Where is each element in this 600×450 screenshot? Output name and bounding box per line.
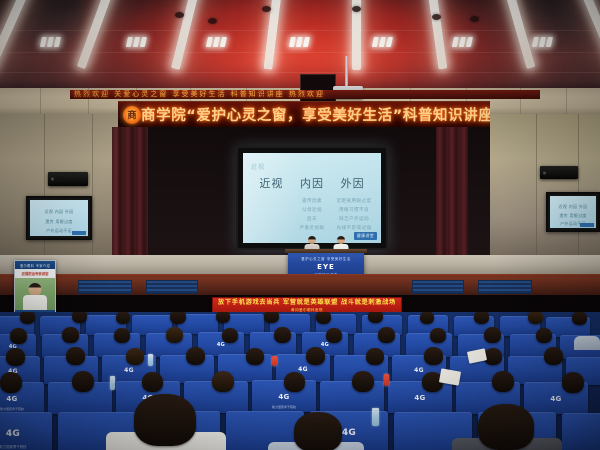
audience-head xyxy=(562,372,584,393)
seat-sub-label: 助力国家青干院校 xyxy=(0,444,52,449)
slide-badge: 健康讲堂 xyxy=(354,232,377,240)
audience-head xyxy=(186,347,205,365)
stage-curtain-right xyxy=(436,127,468,257)
audience-head xyxy=(368,312,383,323)
slide-line: 父母近视 xyxy=(302,208,322,215)
water-bottle xyxy=(148,354,153,366)
slide-header-tag: 近视 xyxy=(251,162,265,171)
audience-head xyxy=(378,327,395,343)
slide-line: 用眼习惯不良 xyxy=(339,208,369,215)
monitor-badge xyxy=(580,223,594,227)
audience-head xyxy=(66,347,85,365)
audience-head xyxy=(72,312,87,323)
audience-head xyxy=(264,312,279,323)
ceiling-lamp-cluster xyxy=(369,36,395,47)
audience-head xyxy=(212,371,234,392)
ceiling-seam xyxy=(0,72,600,73)
slide-line: 后天 xyxy=(307,217,317,224)
led-banner-main: 商 商学院“爱护心灵之窗，享受美好生活”科普知识讲座 xyxy=(118,101,490,128)
slide-column-internal: 遗传因素 父母近视 后天 严重近视眼 xyxy=(291,197,333,233)
audience-head xyxy=(316,312,331,324)
ceiling-vent xyxy=(352,6,361,12)
audience-head xyxy=(170,312,186,324)
presenter-head xyxy=(337,236,345,244)
seat-brand-label: 4G xyxy=(388,394,452,402)
slide-title-0: 近视 xyxy=(259,175,283,191)
monitor-text-row: 遗传 用眼过度 xyxy=(550,213,596,219)
projection-screen: 近视 近视 内因 外因 遗传因素 父母近视 后天 严重近视眼 近距离用眼过度 用… xyxy=(243,153,381,243)
side-monitor-left: 近视 内因 外因 遗传 用眼过度 户外运动不足 xyxy=(26,196,92,240)
seat xyxy=(562,413,600,450)
audience-head xyxy=(474,312,489,324)
slide-line: 严重近视眼 xyxy=(300,226,325,233)
seat-brand-label: 4G xyxy=(198,342,244,348)
side-monitor-right: 近视 内因 外因 遗传 用眼过度 户外运动不足 xyxy=(546,192,600,232)
audience-head xyxy=(246,348,264,365)
water-bottle xyxy=(384,374,389,386)
audience-head xyxy=(484,327,501,343)
ceiling-vent xyxy=(262,6,271,12)
riser-vent-grille xyxy=(78,280,132,294)
audience-head xyxy=(352,371,374,392)
monitor-badge xyxy=(72,231,86,235)
water-bottle xyxy=(272,356,277,366)
audience-head xyxy=(274,327,291,343)
poster-header-text: 爱尔眼科 专家介绍 xyxy=(20,263,50,268)
wall-seam xyxy=(578,114,579,264)
wall-speaker-left xyxy=(48,172,88,186)
ceiling-lamp-cluster xyxy=(449,36,475,47)
led-banner-title: 商学院“爱护心灵之窗，享受美好生活”科普知识讲座 xyxy=(141,104,490,125)
slide-line: 遗传因素 xyxy=(302,199,322,206)
ceiling-vent xyxy=(432,14,441,20)
led-ticker-top: 热烈欢迎 关爱心灵之窗 享受美好生活 科普知识讲座 热烈欢迎 xyxy=(70,90,540,99)
table-skirt-logo: EYE xyxy=(288,263,364,271)
ceiling-lamp-cluster xyxy=(37,36,63,47)
right-side-wall xyxy=(490,114,600,264)
led-ticker-top-text: 热烈欢迎 关爱心灵之窗 享受美好生活 科普知识讲座 热烈欢迎 xyxy=(74,90,325,99)
poster-band: 近视防治专家讲堂 xyxy=(15,269,55,278)
slogan-banner-main-text: 放下手机游戏去当兵 军营就是英雄联盟 战斗就是刺激战场 xyxy=(218,300,396,306)
poster-band-text: 近视防治专家讲堂 xyxy=(21,271,48,276)
slide-title-row: 近视 内因 外因 xyxy=(243,175,381,191)
audience-head xyxy=(142,372,163,392)
table-top-surface xyxy=(285,249,367,253)
audience-head xyxy=(10,328,27,344)
slide-line: 近距离用眼过度 xyxy=(337,199,372,206)
seat-brand-label: 4G xyxy=(0,429,52,439)
seat-sub-label: 助力国家青干院校 xyxy=(252,405,316,409)
slide-column-spacer xyxy=(249,197,291,233)
riser-vent-grille xyxy=(146,280,198,294)
ceiling-lamp-cluster xyxy=(203,36,229,47)
foreground-attendee-head xyxy=(294,412,342,450)
audience-head xyxy=(126,348,144,365)
slide-column-external: 近距离用眼过度 用眼习惯不良 缺乏户外运动 光线不足或过强 xyxy=(333,197,375,233)
audience-head xyxy=(430,328,446,343)
audience-head xyxy=(366,348,384,365)
ceiling-lamp-cluster xyxy=(286,36,312,47)
table-skirt-line-1: 爱护心灵之窗 享受美好生活 xyxy=(288,256,364,261)
wall-seam xyxy=(92,114,93,264)
seat-brand-label: 4G xyxy=(276,366,330,373)
lecture-hall-photo: 热烈欢迎 关爱心灵之窗 享受美好生活 科普知识讲座 热烈欢迎 商 商学院“爱护心… xyxy=(0,0,600,450)
ceiling-lamp-cluster xyxy=(529,36,555,47)
seat: 4G 助力国家青干院校 xyxy=(0,412,52,450)
wall-seam xyxy=(44,114,45,264)
projector-mount-pole xyxy=(345,56,348,90)
seat-brand-label: 4G xyxy=(0,395,44,403)
audience-head xyxy=(72,371,94,392)
audience-head xyxy=(306,347,325,365)
presenter-head xyxy=(308,236,316,244)
audience-head xyxy=(528,312,543,324)
wall-panel-seam xyxy=(40,88,41,114)
audience-head xyxy=(544,347,563,365)
slide-line: 缺乏户外运动 xyxy=(339,217,369,224)
ceiling-vent xyxy=(208,18,217,24)
poster-portrait-torso xyxy=(23,295,47,310)
audience-head xyxy=(572,312,587,325)
slide-content-columns: 遗传因素 父母近视 后天 严重近视眼 近距离用眼过度 用眼习惯不良 缺乏户外运动… xyxy=(243,197,381,233)
audience-head xyxy=(62,327,79,343)
poster-header: 爱尔眼科 专家介绍 xyxy=(15,261,55,269)
audience-head xyxy=(216,312,230,323)
monitor-text-row: 近视 内因 外因 xyxy=(550,204,596,210)
audience-head xyxy=(326,328,342,343)
side-monitor-right-screen: 近视 内因 外因 遗传 用眼过度 户外运动不足 xyxy=(550,196,596,228)
wall-panel-seam xyxy=(566,88,567,114)
wall-seam xyxy=(536,114,537,264)
audience-head xyxy=(284,372,305,392)
left-side-wall xyxy=(0,114,118,264)
seat-brand-label: 4G xyxy=(302,342,348,348)
audience-head xyxy=(20,312,35,324)
audience-seating-area: 4G 4G 4G 4G 4G xyxy=(0,312,600,450)
audience-head xyxy=(222,328,238,343)
audience-shoulders xyxy=(574,336,600,350)
seat-brand-label: 4G xyxy=(252,393,316,401)
monitor-text-row: 近视 内因 外因 xyxy=(30,209,88,215)
seat-sub-label: 助力国家青干院校 xyxy=(0,407,44,411)
audience-head xyxy=(114,328,130,343)
foreground-attendee-head xyxy=(478,404,534,450)
projection-screen-frame: 近视 近视 内因 外因 遗传因素 父母近视 后天 严重近视眼 近距离用眼过度 用… xyxy=(236,146,388,250)
foreground-attendee-head xyxy=(134,394,196,446)
audience-head xyxy=(166,327,183,343)
audience-head xyxy=(116,312,130,324)
seat-brand-label: 4G xyxy=(524,395,588,403)
riser-vent-grille xyxy=(412,280,464,294)
audience-head xyxy=(536,328,552,343)
stage-curtain-left xyxy=(112,127,148,257)
poster-portrait-photo xyxy=(15,278,55,310)
wall-speaker-right xyxy=(540,166,578,179)
ceiling-vent xyxy=(175,12,184,18)
water-bottle xyxy=(110,376,115,390)
water-bottle xyxy=(372,408,379,426)
ceiling-lamp-cluster xyxy=(123,36,149,47)
audience-head xyxy=(484,348,502,365)
side-monitor-left-screen: 近视 内因 外因 遗传 用眼过度 户外运动不足 xyxy=(30,200,88,236)
audience-head xyxy=(420,312,434,324)
audience-head xyxy=(492,371,514,392)
audience-head xyxy=(6,348,25,366)
riser-vent-grille xyxy=(478,280,532,294)
banner-emblem-left-icon: 商 xyxy=(123,106,141,124)
audience-head xyxy=(0,372,22,393)
ceiling-vent xyxy=(470,16,479,22)
slide-title-1: 内因 xyxy=(300,175,324,191)
audience-head xyxy=(424,347,443,365)
slide-title-2: 外因 xyxy=(341,175,365,191)
monitor-text-row: 遗传 用眼过度 xyxy=(30,219,88,225)
